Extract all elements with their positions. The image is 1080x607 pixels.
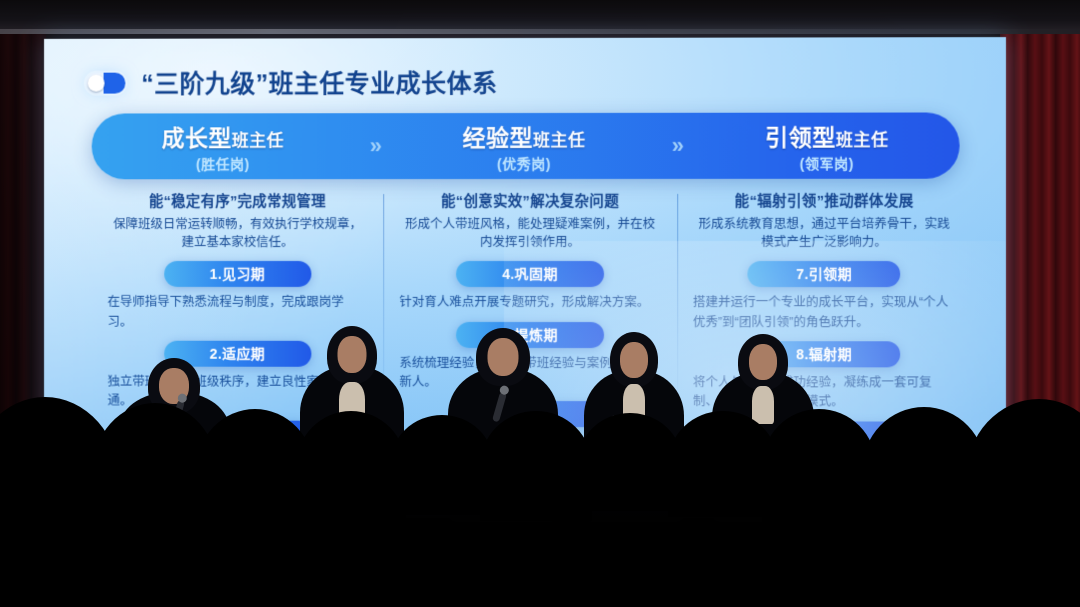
stage-sub-1: (胜任岗) <box>196 154 250 174</box>
panelist-5-shirt <box>752 386 774 424</box>
chevron-right-icon-2: » <box>656 133 694 159</box>
stage-cell-3: 引领型班主任 (领军岗) <box>694 118 959 173</box>
panelist-2 <box>300 366 404 522</box>
chevron-right-icon-1: » <box>354 133 392 159</box>
stage-curtain-left <box>0 0 46 470</box>
panelist-4-microphone <box>602 422 617 453</box>
panelist-5-face <box>749 344 777 380</box>
step-badge-7: 7.引领期 <box>748 261 901 287</box>
stage-sub-3: (领军岗) <box>800 153 854 173</box>
stage-cell-1: 成长型班主任 (胜任岗) <box>92 119 355 174</box>
conference-stage-scene: “三阶九级”班主任专业成长体系 成长型班主任 (胜任岗) » 经验型班主任 (优… <box>0 0 1080 607</box>
column-1-lead: 保障班级日常运转顺畅，有效执行学校规章，建立基本家校信任。 <box>108 215 368 251</box>
step-badge-1: 1.见习期 <box>164 261 311 287</box>
stage-name-3: 引领型班主任 <box>765 118 889 152</box>
stage-name-3-suffix: 班主任 <box>836 130 889 149</box>
stage-cell-2: 经验型班主任 (优秀岗) <box>392 118 656 173</box>
stage-name-1-suffix: 班主任 <box>232 131 284 150</box>
stage-name-2-main: 经验型 <box>463 124 533 150</box>
stage-name-3-main: 引领型 <box>765 124 836 150</box>
column-2-headline: 能“创意实效”解决复杂问题 <box>399 190 660 211</box>
stage-name-1: 成长型班主任 <box>162 119 284 153</box>
step-text-7: 搭建并运行一个专业的成长平台，实现从“个人优秀”到“团队引领”的角色跃升。 <box>693 293 956 332</box>
toggle-knob <box>88 74 105 91</box>
panelist-5 <box>712 372 814 522</box>
step-text-1: 在导师指导下熟悉流程与制度，完成跟岗学习。 <box>108 293 368 332</box>
panelist-3-microphone <box>492 392 507 423</box>
panelist-1 <box>118 392 230 522</box>
toggle-switch-icon[interactable] <box>86 72 126 93</box>
stage-name-2: 经验型班主任 <box>463 118 586 152</box>
stage-progression-bar: 成长型班主任 (胜任岗) » 经验型班主任 (优秀岗) » 引领型班主任 (领军… <box>92 112 960 179</box>
stage-name-1-main: 成长型 <box>162 125 232 151</box>
ceiling-beam <box>0 0 1080 34</box>
page-title: “三阶九级”班主任专业成长体系 <box>141 64 497 100</box>
column-2-lead: 形成个人带班风格，能处理疑难案例，并在校内发挥引领作用。 <box>399 215 660 251</box>
stage-name-2-suffix: 班主任 <box>533 130 586 149</box>
panelist-3-face <box>488 338 519 376</box>
column-3-headline: 能“辐射引领”推动群体发展 <box>693 190 956 211</box>
column-1-headline: 能“稳定有序”完成常规管理 <box>108 190 368 211</box>
stage-curtain-right <box>1000 0 1080 470</box>
column-3-lead: 形成系统教育思想，通过平台培养骨干，实践模式产生广泛影响力。 <box>693 215 956 251</box>
panelist-4-shirt <box>623 384 645 424</box>
step-badge-4: 4.巩固期 <box>456 261 604 287</box>
panelist-4 <box>584 370 684 522</box>
panelist-2-face <box>338 336 367 373</box>
panelist-3 <box>448 368 558 522</box>
stage-sub-2: (优秀岗) <box>497 153 551 173</box>
step-text-4: 针对育人难点开展专题研究，形成解决方案。 <box>399 293 660 312</box>
panelist-4-face <box>620 342 648 378</box>
slide-title-row: “三阶九级”班主任专业成长体系 <box>86 64 498 101</box>
panelist-2-scarf <box>339 382 365 426</box>
